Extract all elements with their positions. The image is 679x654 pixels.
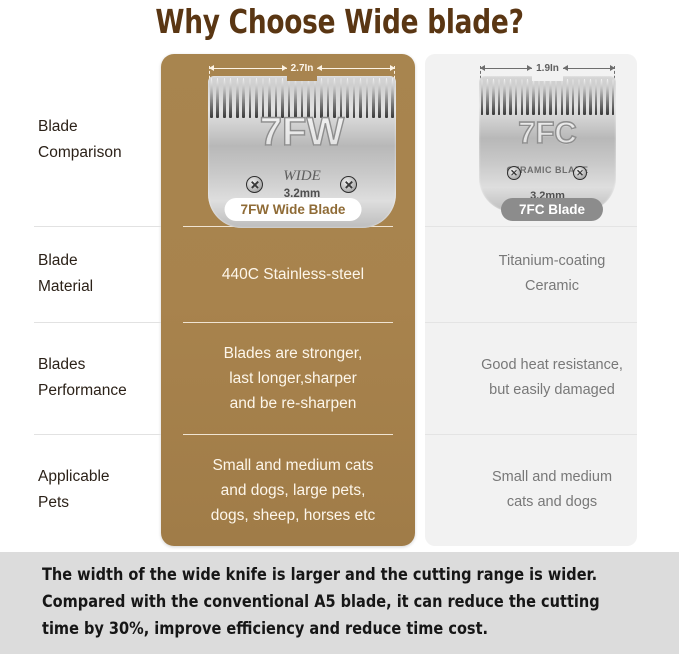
footer-line: The width of the wide knife is larger an… [42, 562, 572, 589]
row-label-line: Blade [38, 114, 161, 140]
value-line: but easily damaged [489, 378, 615, 403]
value-line: cats and dogs [507, 490, 597, 515]
blade-subtitle-text: CERAMIC BLADE [479, 158, 616, 183]
footer-banner: The width of the wide knife is larger an… [0, 552, 679, 654]
featured-blade-pill-label: 7FW Wide Blade [225, 198, 362, 221]
comparison-table: Blade Comparison 2.7In [0, 54, 679, 548]
table-row: Applicable Pets Small and medium cats an… [0, 434, 679, 546]
infographic-page: Why Choose Wide blade? Blade Comparison [0, 0, 679, 654]
featured-pets-value: Small and medium cats and dogs, large pe… [161, 434, 425, 546]
compared-pets-value: Small and medium cats and dogs [425, 434, 679, 546]
value-line: 440C Stainless-steel [222, 262, 364, 287]
compared-performance-value: Good heat resistance, but easily damaged [425, 322, 679, 434]
featured-material-value: 440C Stainless-steel [161, 226, 425, 322]
table-row: Blades Performance Blades are stronger, … [0, 322, 679, 434]
compared-blade-pill-label: 7FC Blade [501, 198, 603, 221]
featured-performance-value: Blades are stronger, last longer,sharper… [161, 322, 425, 434]
screw-icon [246, 176, 263, 193]
row-label-line: Blade [38, 248, 161, 274]
table-row: Blade Material 440C Stainless-steel Tita… [0, 226, 679, 322]
value-line: and be re-sharpen [230, 391, 357, 416]
featured-blade-cell: 2.7In [161, 54, 425, 226]
row-label-blades-performance: Blades Performance [0, 322, 161, 434]
footer-line: time by 30%, improve efficiency and redu… [42, 616, 572, 643]
row-label-line: Blades [38, 352, 161, 378]
row-label-line: Applicable [38, 464, 161, 490]
dimension-label: 1.9In [532, 56, 563, 81]
blade-model-text: 7FW [208, 120, 396, 145]
value-line: and dogs, large pets, [221, 478, 366, 503]
screw-icon [573, 166, 587, 180]
blade-teeth [479, 76, 616, 118]
blade-body-7fc: 7FC CERAMIC BLADE 3.2mm [479, 76, 616, 212]
row-label-line: Material [38, 274, 161, 300]
page-title: Why Choose Wide blade? [68, 2, 611, 42]
value-line: Small and medium cats [212, 453, 373, 478]
value-line: Titanium-coating [499, 249, 606, 274]
compared-material-value: Titanium-coating Ceramic [425, 226, 679, 322]
screw-icon [507, 166, 521, 180]
value-line: last longer,sharper [229, 366, 357, 391]
value-line: Ceramic [525, 274, 579, 299]
footer-line: Compared with the conventional A5 blade,… [42, 589, 572, 616]
compared-blade-cell: 1.9In [425, 54, 679, 226]
dimension-indicator-right: 1.9In [480, 62, 615, 74]
row-label-blade-material: Blade Material [0, 226, 161, 322]
ceramic-blade-illustration: 1.9In [441, 54, 663, 226]
value-line: Blades are stronger, [224, 341, 363, 366]
table-row: Blade Comparison 2.7In [0, 54, 679, 226]
dimension-indicator-left: 2.7In [209, 62, 395, 74]
row-label-line: Pets [38, 490, 161, 516]
blade-model-text: 7FC [479, 120, 616, 145]
wide-blade-illustration: 2.7In [175, 54, 411, 226]
footer-description: The width of the wide knife is larger an… [42, 562, 572, 643]
value-line: Good heat resistance, [481, 353, 623, 378]
value-line: Small and medium [492, 465, 612, 490]
value-line: dogs, sheep, horses etc [211, 503, 376, 528]
row-label-line: Performance [38, 378, 161, 404]
dimension-label: 2.7In [287, 56, 318, 81]
row-label-blade-comparison: Blade Comparison [0, 54, 161, 226]
screw-icon [340, 176, 357, 193]
row-label-line: Comparison [38, 140, 161, 166]
row-label-applicable-pets: Applicable Pets [0, 434, 161, 546]
